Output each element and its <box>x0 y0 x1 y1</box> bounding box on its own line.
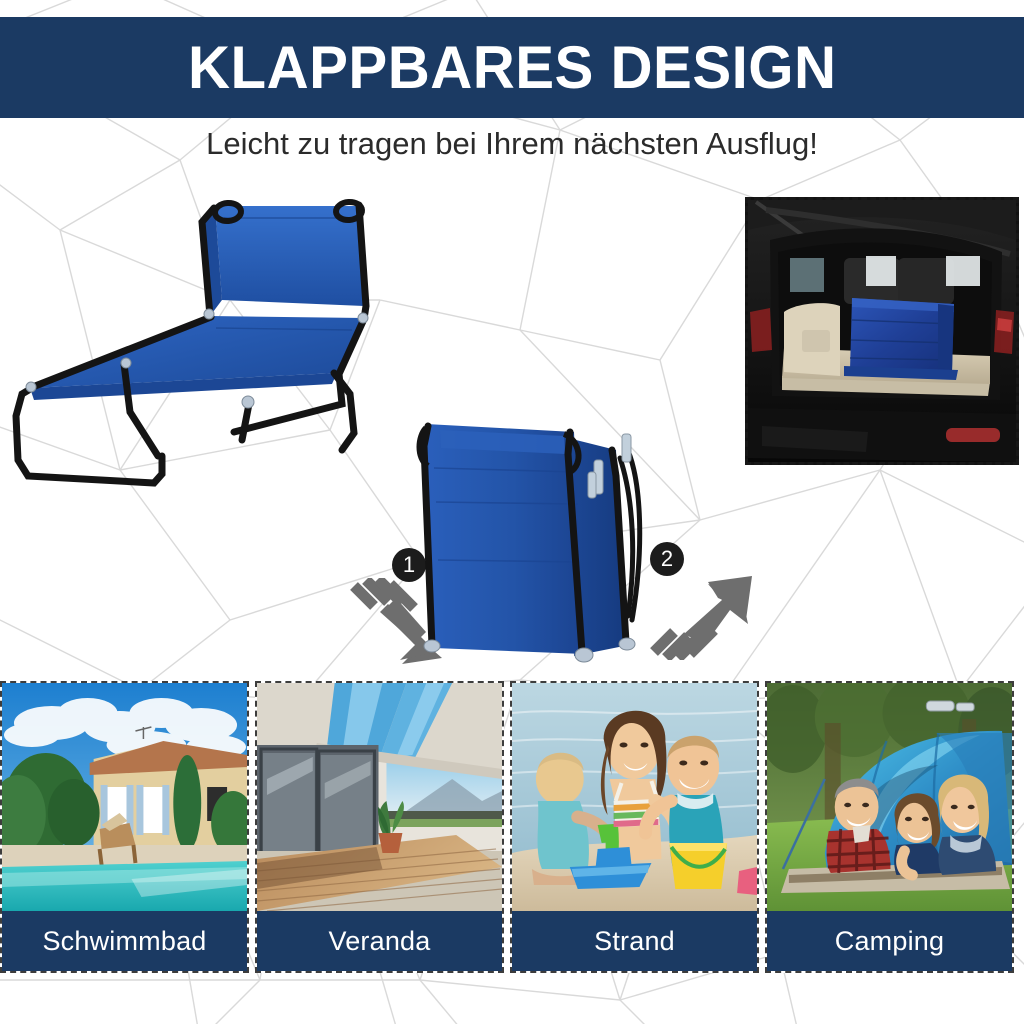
thumbnail-schwimmbad-photo <box>2 683 247 911</box>
thumbnail-veranda-caption: Veranda <box>257 911 502 971</box>
thumbnail-camping[interactable]: Camping <box>765 681 1014 973</box>
thumbnail-camping-photo <box>767 683 1012 911</box>
use-case-thumbnail-strip: Schwimmbad <box>0 681 1024 973</box>
thumbnail-strand[interactable]: Strand <box>510 681 759 973</box>
thumbnail-veranda-photo <box>257 683 502 911</box>
page-subtitle: Leicht zu tragen bei Ihrem nächsten Ausf… <box>0 126 1024 162</box>
thumbnail-camping-caption: Camping <box>767 911 1012 971</box>
thumbnail-schwimmbad-caption: Schwimmbad <box>2 911 247 971</box>
product-demo-area: 1 <box>0 180 1024 672</box>
thumbnail-strand-caption: Strand <box>512 911 757 971</box>
header-title-band: KLAPPBARES DESIGN <box>0 17 1024 118</box>
lounger-folded-illustration <box>398 410 666 675</box>
arrow-up-right-icon <box>648 568 764 660</box>
product-infographic: KLAPPBARES DESIGN Leicht zu tragen bei I… <box>0 0 1024 1024</box>
thumbnail-veranda[interactable]: Veranda <box>255 681 504 973</box>
thumbnail-strand-photo <box>512 683 757 911</box>
page-title: KLAPPBARES DESIGN <box>188 38 837 98</box>
trunk-photo <box>745 197 1019 465</box>
thumbnail-schwimmbad[interactable]: Schwimmbad <box>0 681 249 973</box>
lounger-open-illustration <box>2 188 372 498</box>
